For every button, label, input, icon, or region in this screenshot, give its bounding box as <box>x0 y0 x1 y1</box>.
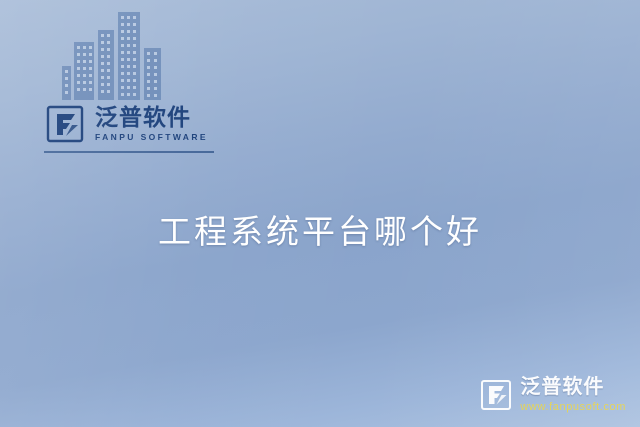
brand-block: 泛普软件 FANPU SOFTWARE <box>44 8 224 158</box>
page-title: 工程系统平台哪个好 <box>0 205 640 253</box>
fanpu-f-mark-icon <box>44 103 86 145</box>
watermark-fanpu-f-mark-icon <box>479 378 513 412</box>
logo-name-en: FANPU SOFTWARE <box>95 133 208 142</box>
city-skyline-icon <box>56 8 178 100</box>
logo-lockup: 泛普软件 FANPU SOFTWARE <box>44 103 208 145</box>
logo-underline <box>44 151 214 153</box>
watermark: 泛普软件 www.fanpusoft.com <box>479 377 626 413</box>
logo-name-cn: 泛普软件 <box>95 106 208 129</box>
watermark-url: www.fanpusoft.com <box>520 402 626 413</box>
image-canvas: 泛普软件 FANPU SOFTWARE 工程系统平台哪个好 泛普软件 www.f… <box>0 0 640 427</box>
watermark-name: 泛普软件 <box>520 377 626 397</box>
